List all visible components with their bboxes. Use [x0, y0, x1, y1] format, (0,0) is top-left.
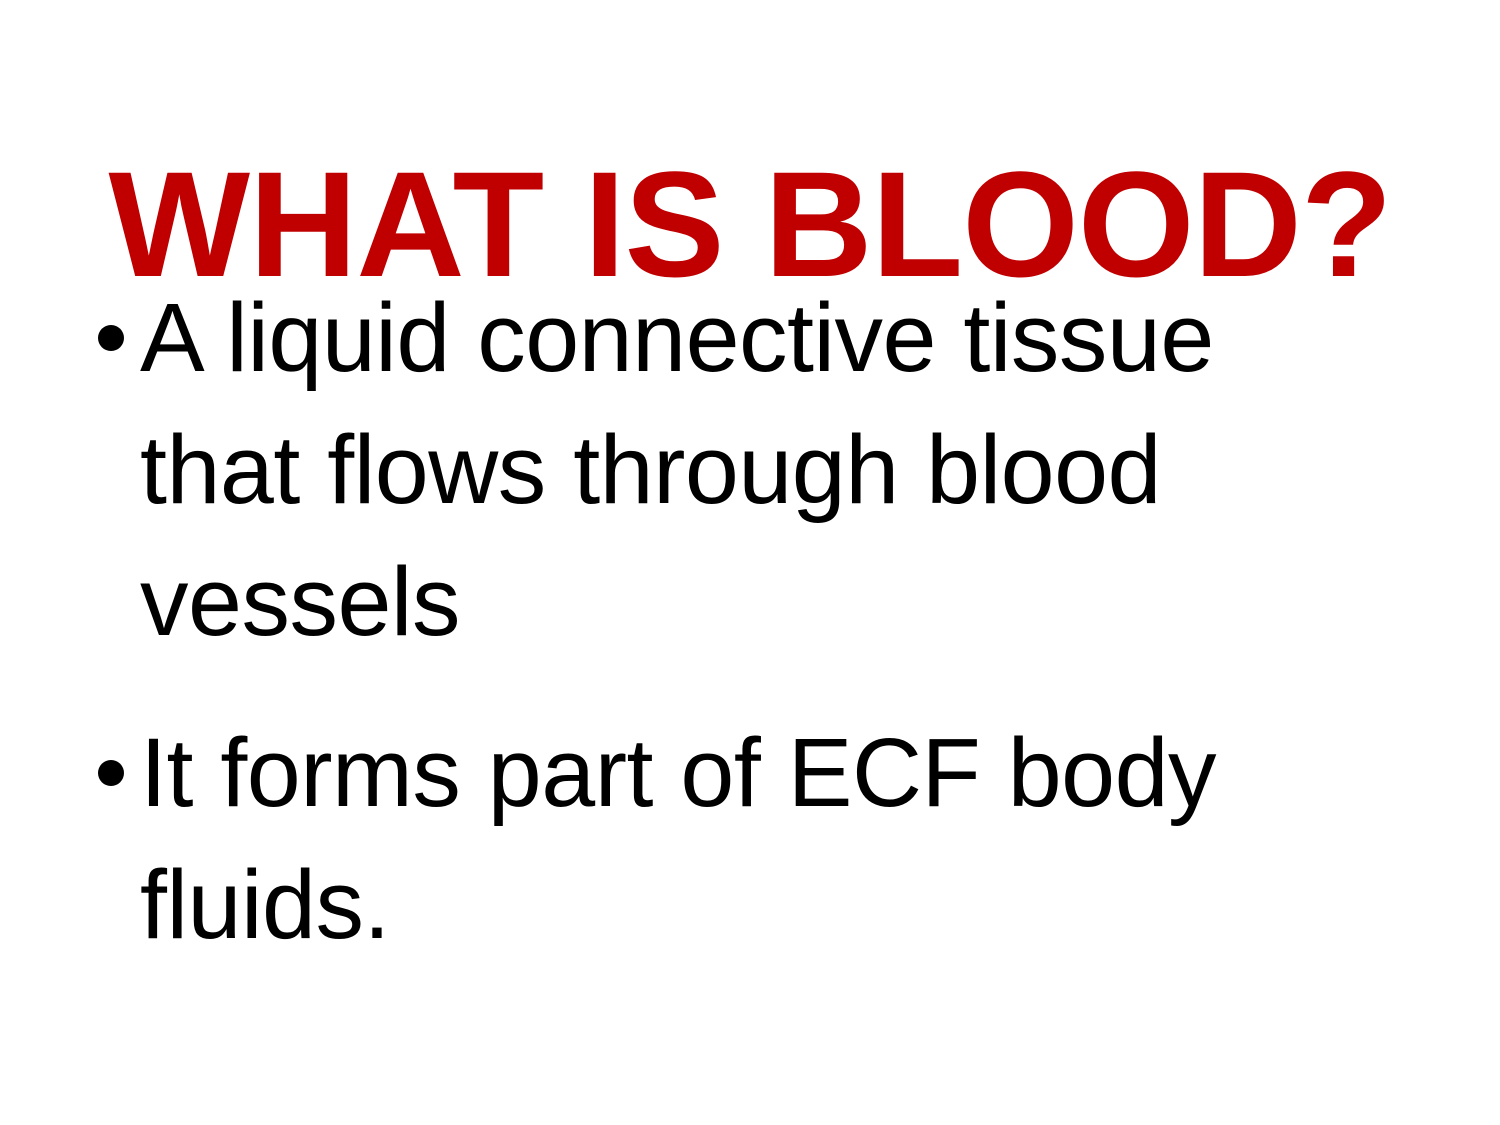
bullet-point-icon — [90, 272, 140, 404]
bullet-list: A liquid connective tissue that flows th… — [90, 272, 1350, 971]
list-item-text: A liquid connective tissue that flows th… — [140, 272, 1350, 668]
slide: WHAT IS BLOOD? A liquid connective tissu… — [0, 0, 1500, 1125]
bullet-point-icon — [90, 707, 140, 839]
list-item: A liquid connective tissue that flows th… — [90, 272, 1350, 668]
list-item: It forms part of ECF body fluids. — [90, 707, 1350, 971]
list-item-text: It forms part of ECF body fluids. — [140, 707, 1350, 971]
